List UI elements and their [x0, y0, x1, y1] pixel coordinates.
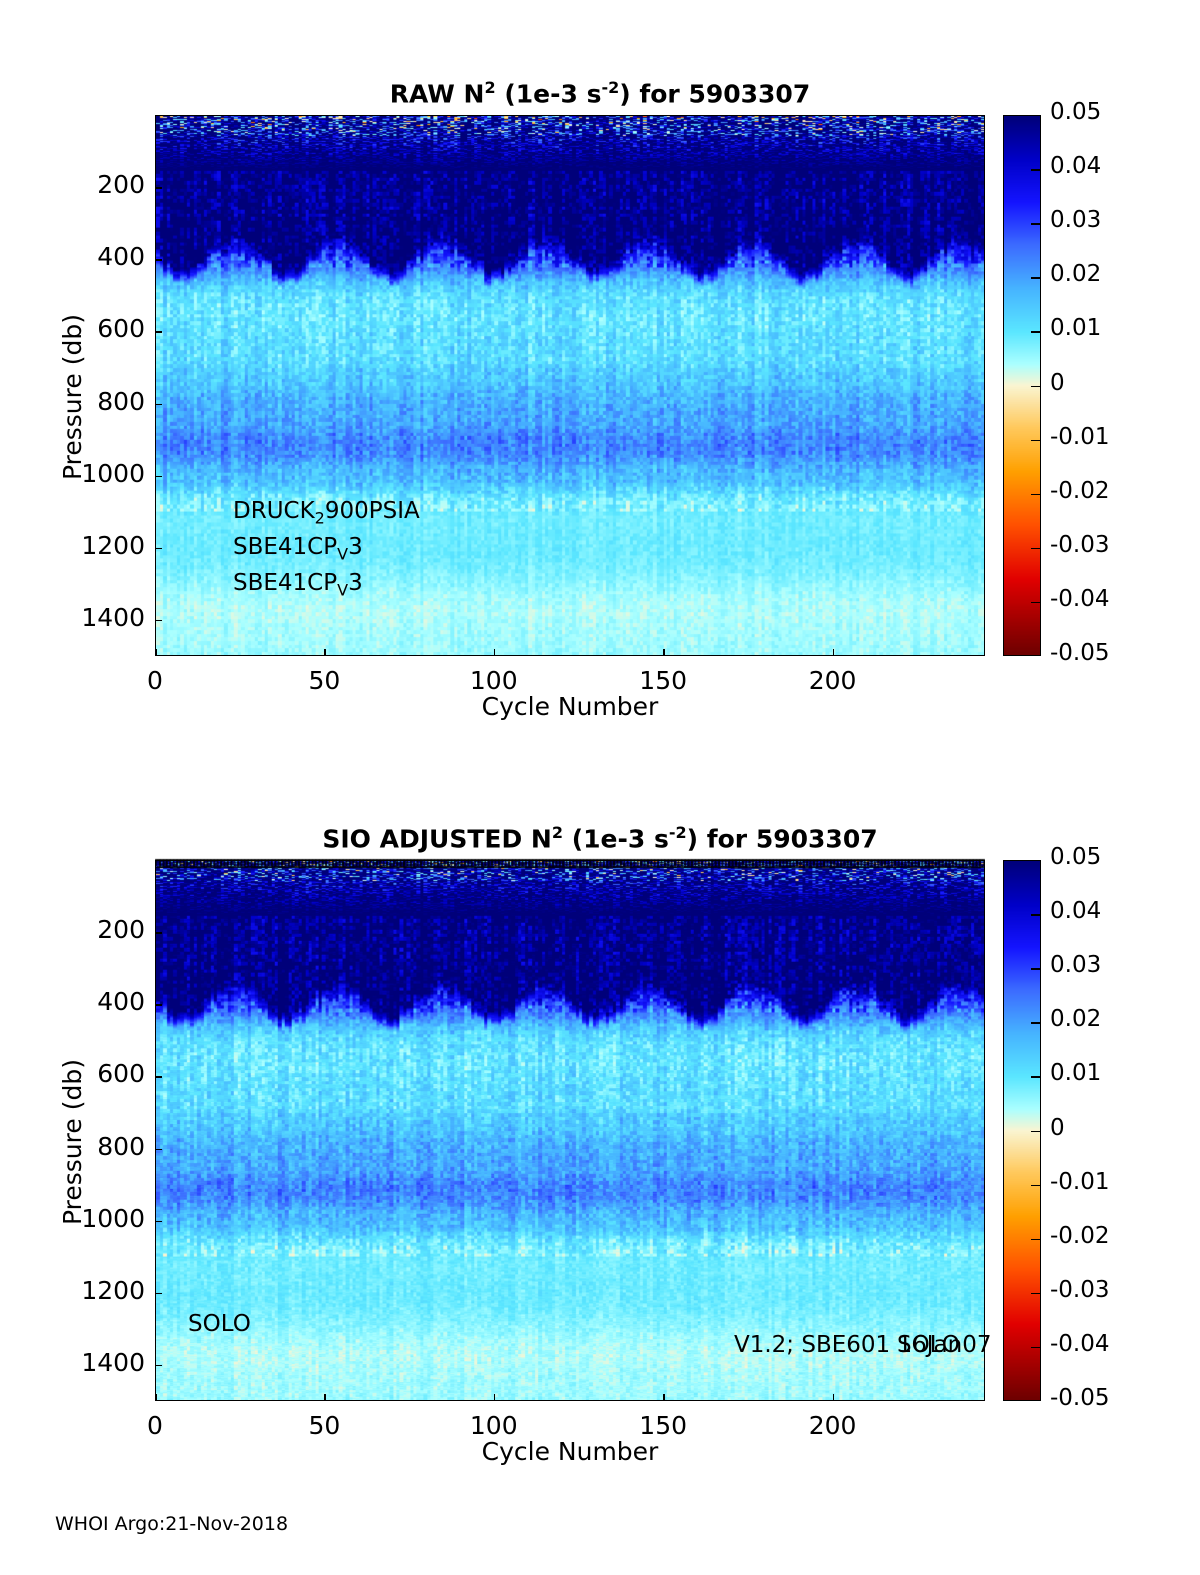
- annotation-platform-type-overlap: SOLO: [897, 1332, 960, 1358]
- annot-post: 3: [348, 534, 363, 560]
- x-tick-mark: [155, 649, 157, 656]
- colorbar-tick-mark: [1031, 1185, 1040, 1187]
- colorbar-tick-label: 0.02: [1050, 1006, 1101, 1032]
- annotation-sensor-ctd-1: SBE41CPV3: [233, 534, 363, 564]
- annotation-sensor-pressure: DRUCK2900PSIA: [233, 498, 420, 528]
- colorbar-tick-mark: [1031, 494, 1040, 496]
- colorbar-tick-label: 0.01: [1050, 315, 1101, 341]
- annot-pre: SBE41CP: [233, 534, 337, 560]
- colorbar-tick-label: 0: [1050, 1115, 1065, 1141]
- title-text-pre: SIO ADJUSTED N: [322, 824, 551, 853]
- colorbar-tick-label: 0: [1050, 370, 1065, 396]
- colorbar-tick-label: 0.05: [1050, 99, 1101, 125]
- x-axis-label-raw: Cycle Number: [155, 692, 985, 721]
- colorbar-tick-label: 0.02: [1050, 261, 1101, 287]
- y-tick-mark: [155, 620, 162, 622]
- title-sup-2: -2: [601, 78, 619, 97]
- colorbar-tick-label: -0.02: [1050, 478, 1110, 504]
- colorbar-tick-mark: [1031, 1076, 1040, 1078]
- colorbar-tick-label: 0.05: [1050, 844, 1101, 870]
- y-tick-mark: [155, 548, 162, 550]
- x-tick-label: 0: [110, 1411, 200, 1440]
- colorbar-tick-label: -0.04: [1050, 1331, 1110, 1357]
- y-tick-mark: [155, 1076, 162, 1078]
- y-tick-mark: [155, 932, 162, 934]
- y-tick-mark: [155, 1004, 162, 1006]
- colorbar-tick-label: -0.03: [1050, 532, 1110, 558]
- annot-sub: V: [337, 545, 348, 564]
- x-tick-mark: [663, 1394, 665, 1401]
- title-text-mid: (1e-3 s: [496, 79, 602, 108]
- x-tick-mark: [833, 649, 835, 656]
- x-tick-label: 50: [279, 666, 369, 695]
- x-tick-label: 0: [110, 666, 200, 695]
- colorbar-tick-label: 0.03: [1050, 207, 1101, 233]
- colorbar-tick-mark: [1031, 548, 1040, 550]
- y-tick-mark: [155, 1365, 162, 1367]
- colorbar-tick-mark: [1031, 1239, 1040, 1241]
- x-tick-label: 100: [449, 1411, 539, 1440]
- colorbar-tick-mark: [1031, 968, 1040, 970]
- colorbar-tick-mark: [1031, 1293, 1040, 1295]
- annot-pre: DRUCK: [233, 498, 315, 524]
- x-tick-label: 100: [449, 666, 539, 695]
- x-axis-label-adjusted: Cycle Number: [155, 1437, 985, 1466]
- x-tick-label: 200: [788, 1411, 878, 1440]
- x-tick-label: 200: [788, 666, 878, 695]
- colorbar-tick-label: 0.04: [1050, 153, 1101, 179]
- colorbar-tick-mark: [1031, 602, 1040, 604]
- x-tick-mark: [833, 1394, 835, 1401]
- annot-post: 900PSIA: [325, 498, 420, 524]
- colorbar-tick-mark: [1031, 1347, 1040, 1349]
- colorbar-tick-label: 0.01: [1050, 1060, 1101, 1086]
- panel-adjusted: SIO ADJUSTED N2 (1e-3 s-2) for 5903307 2…: [0, 745, 1200, 1545]
- title-sup-2: -2: [669, 823, 687, 842]
- panel-raw-title: RAW N2 (1e-3 s-2) for 5903307: [0, 78, 1200, 108]
- y-tick-label: 200: [20, 915, 145, 944]
- y-axis-label-adjusted: Pressure (db): [58, 1059, 87, 1225]
- colorbar-tick-mark: [1031, 1131, 1040, 1133]
- colorbar-tick-label: -0.05: [1050, 640, 1110, 666]
- y-tick-label: 1200: [20, 1276, 145, 1305]
- cycle-marker-row: [155, 857, 985, 870]
- colorbar-tick-label: -0.01: [1050, 1169, 1110, 1195]
- annot-sub: V: [337, 581, 348, 600]
- title-text-post: ) for 5903307: [687, 824, 878, 853]
- annotation-platform-type: SOLO: [188, 1311, 251, 1337]
- y-tick-label: 1400: [20, 1348, 145, 1377]
- panel-adjusted-title: SIO ADJUSTED N2 (1e-3 s-2) for 5903307: [0, 823, 1200, 853]
- colorbar-tick-label: 0.03: [1050, 952, 1101, 978]
- x-tick-mark: [663, 649, 665, 656]
- title-sup-1: 2: [484, 78, 495, 97]
- colorbar-tick-mark: [1031, 386, 1040, 388]
- x-tick-label: 150: [618, 666, 708, 695]
- heatmap-axes-adjusted[interactable]: [155, 860, 985, 1401]
- colorbar-tick-label: -0.05: [1050, 1385, 1110, 1411]
- colorbar-tick-label: 0.04: [1050, 898, 1101, 924]
- x-tick-mark: [155, 1394, 157, 1401]
- title-text-post: ) for 5903307: [619, 79, 810, 108]
- y-tick-label: 1400: [20, 603, 145, 632]
- figure-footer: WHOI Argo:21-Nov-2018: [55, 1513, 288, 1535]
- colorbar-tick-mark: [1031, 331, 1040, 333]
- y-tick-label: 200: [20, 170, 145, 199]
- x-tick-label: 150: [618, 1411, 708, 1440]
- colorbar-tick-label: -0.04: [1050, 586, 1110, 612]
- y-tick-mark: [155, 476, 162, 478]
- x-tick-mark: [494, 649, 496, 656]
- y-tick-mark: [155, 404, 162, 406]
- x-tick-label: 50: [279, 1411, 369, 1440]
- y-tick-mark: [155, 1221, 162, 1223]
- y-tick-mark: [155, 331, 162, 333]
- y-tick-label: 400: [20, 987, 145, 1016]
- colorbar-tick-mark: [1031, 223, 1040, 225]
- title-sup-1: 2: [552, 823, 563, 842]
- annot-pre: SBE41CP: [233, 570, 337, 596]
- x-tick-mark: [324, 1394, 326, 1401]
- y-tick-mark: [155, 187, 162, 189]
- colorbar-tick-label: -0.02: [1050, 1223, 1110, 1249]
- y-tick-mark: [155, 1293, 162, 1295]
- x-tick-mark: [324, 649, 326, 656]
- y-tick-label: 400: [20, 242, 145, 271]
- colorbar-tick-mark: [1031, 169, 1040, 171]
- title-text-pre: RAW N: [390, 79, 485, 108]
- colorbar-tick-mark: [1031, 1022, 1040, 1024]
- annotation-sensor-ctd-2: SBE41CPV3: [233, 570, 363, 600]
- y-axis-label-raw: Pressure (db): [58, 314, 87, 480]
- x-tick-mark: [494, 1394, 496, 1401]
- y-tick-label: 1200: [20, 531, 145, 560]
- panel-raw: RAW N2 (1e-3 s-2) for 5903307 2004006008…: [0, 0, 1200, 760]
- colorbar-tick-mark: [1031, 440, 1040, 442]
- colorbar-tick-label: -0.01: [1050, 424, 1110, 450]
- colorbar-tick-label: -0.03: [1050, 1277, 1110, 1303]
- annot-sub: 2: [315, 509, 325, 528]
- title-text-mid: (1e-3 s: [563, 824, 669, 853]
- y-tick-mark: [155, 1149, 162, 1151]
- y-tick-mark: [155, 259, 162, 261]
- colorbar-tick-mark: [1031, 277, 1040, 279]
- colorbar-tick-mark: [1031, 914, 1040, 916]
- annot-post: 3: [348, 570, 363, 596]
